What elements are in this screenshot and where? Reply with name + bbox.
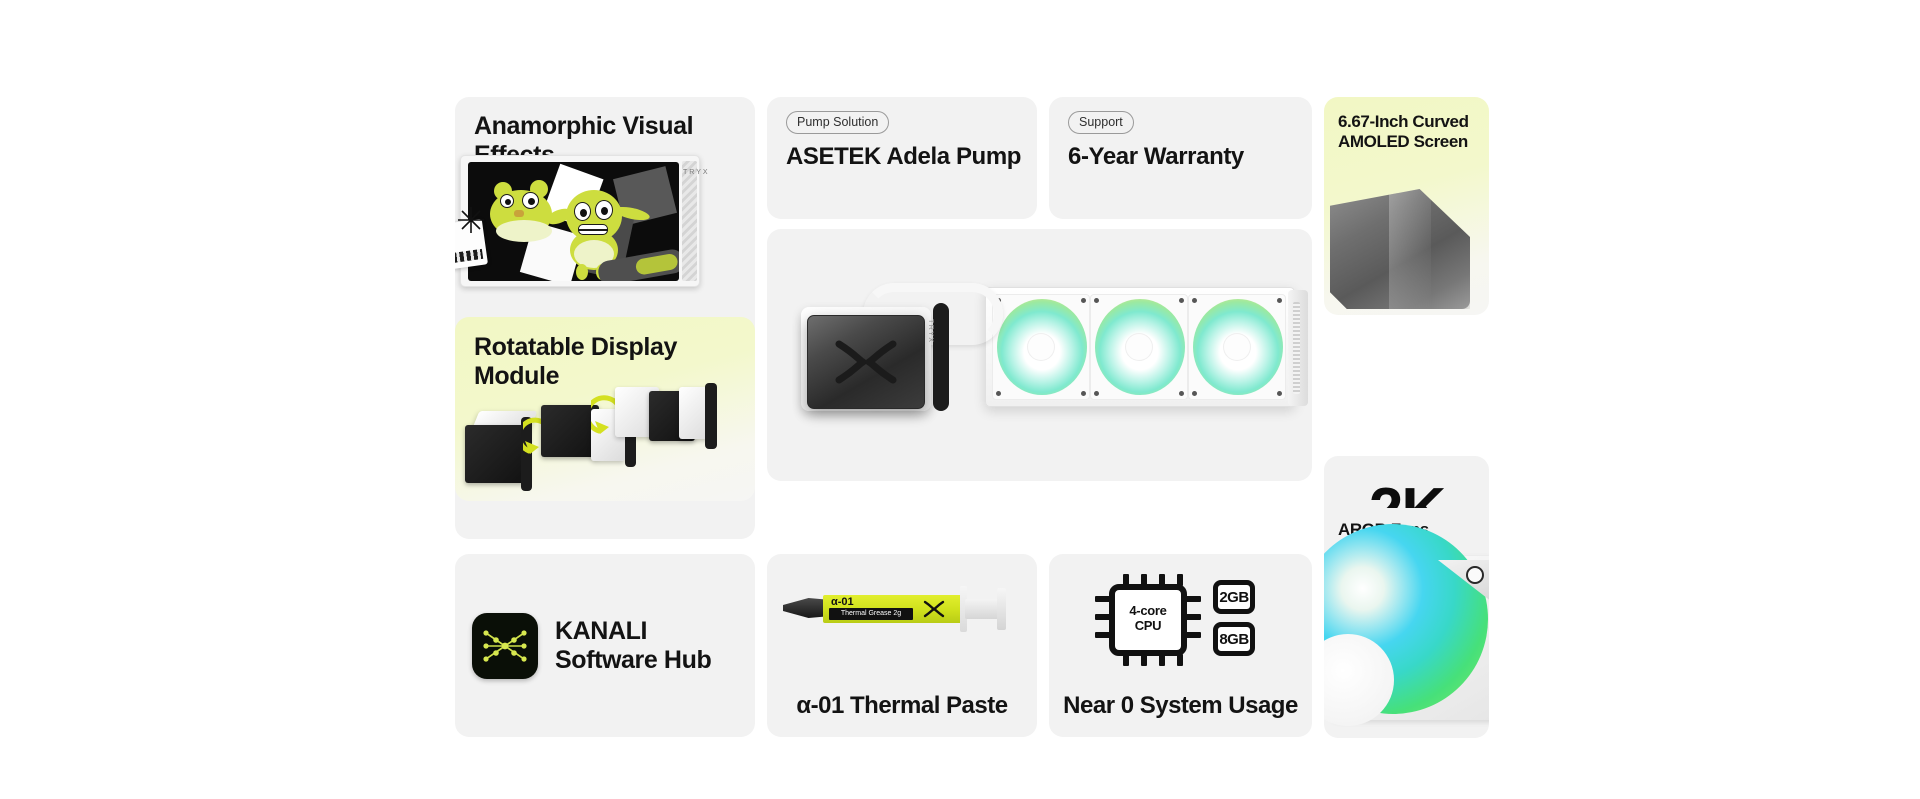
badge-support: Support <box>1068 111 1134 134</box>
fan-3 <box>1188 294 1286 400</box>
tryx-x-mark-icon <box>923 600 945 618</box>
card-pump-solution[interactable]: Pump Solution ASETEK Adela Pump <box>767 97 1037 219</box>
syringe-plunger <box>965 599 999 619</box>
tryx-x-logo-icon <box>833 340 899 384</box>
amoled-panel-illustration <box>1328 189 1478 311</box>
kanali-logo-icon <box>472 613 538 679</box>
x-spark-icon <box>458 207 484 233</box>
brand-mark-tryx: TRYX <box>683 168 696 179</box>
card-title-thermal-paste: α-01 Thermal Paste <box>767 692 1037 720</box>
argb-fan-illustration <box>1332 556 1489 731</box>
monitor-frame: TRYX <box>460 155 700 287</box>
radiator <box>985 287 1295 407</box>
syringe-grease-label: Thermal Grease 2g <box>829 608 913 620</box>
card-thermal-paste[interactable]: α-01 Thermal Grease 2g α-01 Thermal Past… <box>767 554 1037 737</box>
aio-cooler-illustration: TRYX <box>767 229 1312 481</box>
fan-1 <box>992 294 1090 400</box>
card-title-pump: ASETEK Adela Pump <box>786 143 1037 171</box>
card-title-amoled: 6.67-Inch Curved AMOLED Screen <box>1338 112 1489 153</box>
fan-frame <box>1332 556 1489 720</box>
card-kanali-software-hub[interactable]: KANALI Software Hub <box>455 554 755 737</box>
monitor-side-vent <box>682 161 697 281</box>
syringe-end-cap <box>997 588 1006 630</box>
card-title-system-usage: Near 0 System Usage <box>1049 692 1312 720</box>
card-hero-product[interactable]: TRYX <box>767 229 1312 481</box>
fan-2 <box>1090 294 1188 400</box>
cpu-illustration: 4-coreCPU 2GB 8GB <box>1093 574 1283 666</box>
pump-display-block <box>807 315 925 409</box>
pump-mounting-bracket <box>933 303 949 411</box>
brand-mark-tryx-hero: TRYX <box>927 319 934 344</box>
cpu-chip-label: 4-coreCPU <box>1115 604 1181 634</box>
syringe-alpha-label: α-01 <box>831 596 854 608</box>
syringe-illustration: α-01 Thermal Grease 2g <box>777 578 1022 642</box>
badge-pump-solution: Pump Solution <box>786 111 889 134</box>
radiator-fins <box>1293 302 1300 394</box>
anamorphic-monitor-illustration: TRYX <box>455 155 702 290</box>
curved-screen-shape <box>1330 189 1470 309</box>
rotatable-module-illustration <box>463 389 743 497</box>
card-warranty[interactable]: Support 6-Year Warranty <box>1049 97 1312 219</box>
card-argb-fans[interactable]: ARGB Fans <box>1324 508 1489 738</box>
cpu-chip: 4-coreCPU <box>1109 584 1187 656</box>
memory-badge-8gb: 8GB <box>1213 622 1255 656</box>
syringe-tip <box>783 598 827 618</box>
card-rotatable-display-module[interactable]: Rotatable Display Module <box>455 317 755 501</box>
card-title-warranty: 6-Year Warranty <box>1068 143 1312 171</box>
card-system-usage[interactable]: 4-coreCPU 2GB 8GB Near 0 System Usage <box>1049 554 1312 737</box>
card-amoled-screen[interactable]: 6.67-Inch Curved AMOLED Screen <box>1324 97 1489 315</box>
feature-grid: Anamorphic Visual Effects <box>455 97 1465 727</box>
memory-badge-2gb: 2GB <box>1213 580 1255 614</box>
card-title-rotatable: Rotatable Display Module <box>474 333 724 391</box>
feature-grid-page: Anamorphic Visual Effects <box>0 0 1920 799</box>
monitor-screen <box>468 162 679 281</box>
card-title-kanali: KANALI Software Hub <box>555 617 755 675</box>
fan-screw-hole <box>1466 566 1484 584</box>
